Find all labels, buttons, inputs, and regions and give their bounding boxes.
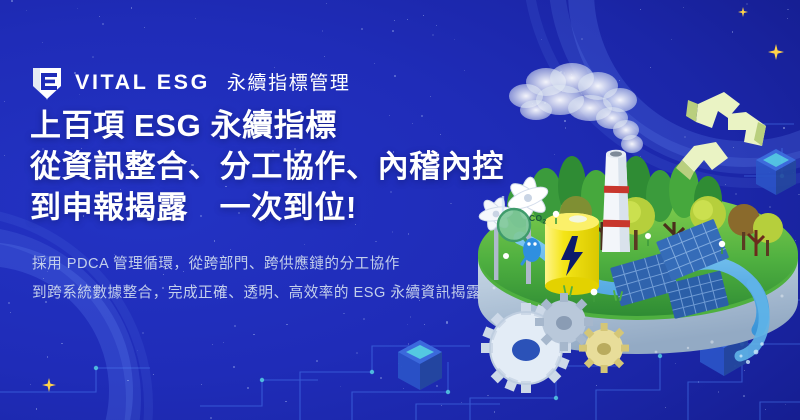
subtitle-block: 採用 PDCA 管理循環，從跨部門、跨供應鏈的分工協作 到跨系統數據整合，完成正… bbox=[32, 250, 481, 308]
gear-cog bbox=[579, 323, 629, 373]
headline-line-2: 從資訊整合、分工協作、內稽內控 bbox=[30, 146, 504, 187]
gear-cog bbox=[535, 293, 593, 351]
smoke-plume bbox=[509, 63, 643, 153]
esg-promo-banner: CO2 VITAL ESG 永續指標管理 上百項 ESG 永續指標 從資訊整合、… bbox=[0, 0, 800, 420]
smokestack bbox=[602, 150, 630, 252]
battery-with-lightning-bolt bbox=[545, 213, 599, 295]
headline-line-3: 到申報揭露 一次到位! bbox=[30, 187, 504, 228]
brand-header: VITAL ESG 永續指標管理 bbox=[32, 66, 351, 100]
vital-shield-e-logo-icon bbox=[32, 66, 62, 100]
headline-line-1: 上百項 ESG 永續指標 bbox=[30, 105, 504, 146]
headline-block: 上百項 ESG 永續指標 從資訊整合、分工協作、內稽內控 到申報揭露 一次到位! bbox=[30, 105, 504, 228]
subtitle-line-1: 採用 PDCA 管理循環，從跨部門、跨供應鏈的分工協作 bbox=[32, 250, 481, 279]
brand-name-zh: 永續指標管理 bbox=[227, 74, 351, 93]
recycling-arrows-symbol bbox=[676, 92, 766, 180]
subtitle-line-2: 到跨系統數據整合，完成正確、透明、高效率的 ESG 永續資訊揭露 bbox=[32, 279, 481, 308]
glowing-chip-cube bbox=[398, 340, 442, 390]
brand-name-en: VITAL ESG bbox=[75, 72, 210, 94]
esg-island-illustration bbox=[460, 0, 800, 420]
sparkle-star bbox=[42, 378, 56, 392]
